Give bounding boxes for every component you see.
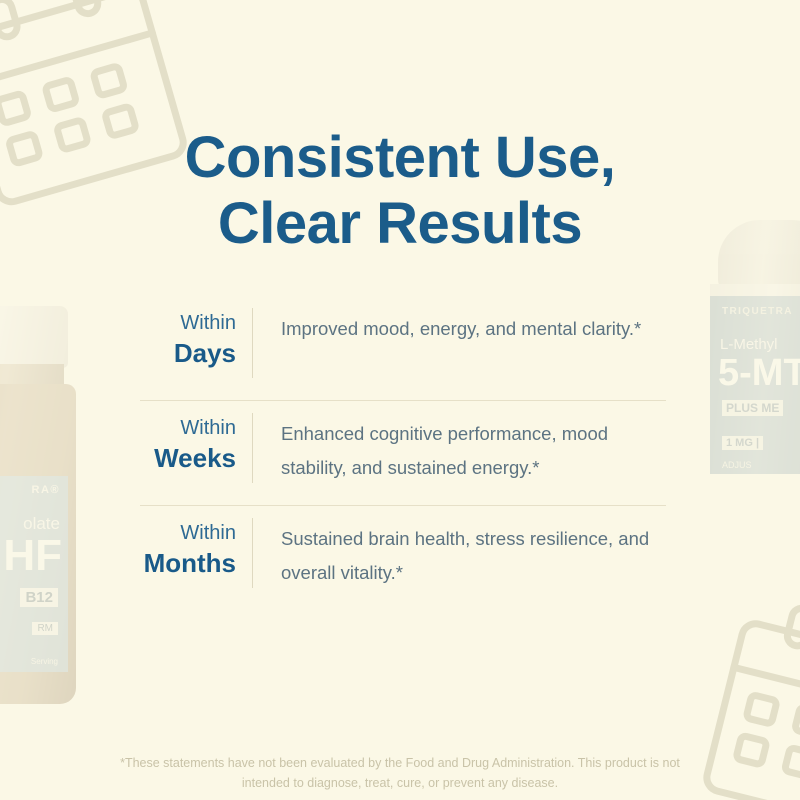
benefits-timeline: Within Days Improved mood, energy, and m… (140, 296, 666, 610)
timeline-period-label: Weeks (140, 442, 236, 475)
timeline-within-label: Within (140, 520, 236, 547)
timeline-period-label: Months (140, 547, 236, 580)
timeline-within-label: Within (140, 415, 236, 442)
poster-canvas: RA® olate HF B12 RM Serving TRIQUETRA L-… (0, 0, 800, 800)
timeline-row-description: Enhanced cognitive performance, mood sta… (253, 401, 666, 484)
timeline-row: Within Months Sustained brain health, st… (140, 506, 666, 610)
page-title-line-1: Consistent Use, (0, 125, 800, 191)
page-title-line-2: Clear Results (0, 191, 800, 257)
timeline-row: Within Weeks Enhanced cognitive performa… (140, 401, 666, 505)
page-title: Consistent Use, Clear Results (0, 125, 800, 257)
timeline-row: Within Days Improved mood, energy, and m… (140, 296, 666, 400)
timeline-row-description: Improved mood, energy, and mental clarit… (253, 296, 666, 346)
timeline-row-label: Within Weeks (140, 401, 252, 475)
timeline-row-label: Within Months (140, 506, 252, 580)
content-layer: Consistent Use, Clear Results Within Day… (0, 0, 800, 800)
fda-disclaimer: *These statements have not been evaluate… (100, 753, 700, 794)
timeline-row-description: Sustained brain health, stress resilienc… (253, 506, 666, 589)
timeline-within-label: Within (140, 310, 236, 337)
timeline-row-label: Within Days (140, 296, 252, 370)
timeline-period-label: Days (140, 337, 236, 370)
